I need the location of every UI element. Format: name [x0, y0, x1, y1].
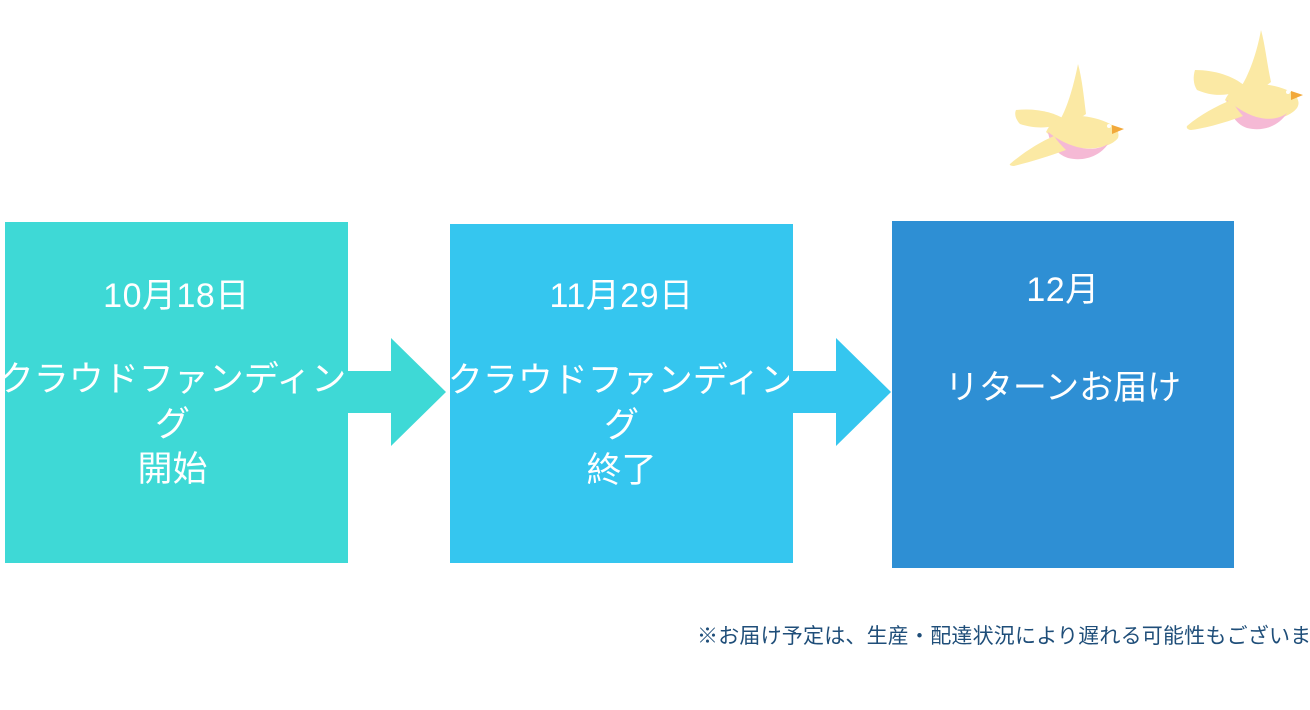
timeline-infographic: 10月18日 クラウドファンディング 開始 11月29日 クラウドファンディング…: [0, 0, 1310, 710]
arrow-step2-to-step3-icon: [789, 338, 891, 451]
bird-left-icon: [1008, 58, 1126, 173]
delivery-disclaimer-note: ※お届け予定は、生産・配達状況により遅れる可能性もございます: [697, 624, 1310, 649]
timeline-step-3-date: 12月: [1026, 273, 1099, 307]
timeline-step-2-label: クラウドファンディング 終了: [442, 359, 802, 493]
timeline-step-1-label: クラウドファンディング 開始: [0, 358, 353, 492]
timeline-step-3-label: リターンお届け: [883, 367, 1243, 411]
timeline-step-2-date: 11月29日: [549, 279, 693, 313]
timeline-step-3: 12月 リターンお届け: [892, 221, 1234, 568]
timeline-step-1: 10月18日 クラウドファンディング 開始: [5, 222, 348, 563]
bird-right-icon: [1185, 28, 1303, 148]
timeline-step-2: 11月29日 クラウドファンディング 終了: [450, 224, 793, 563]
arrow-step1-to-step2-icon: [344, 338, 446, 451]
timeline-step-1-date: 10月18日: [103, 279, 250, 313]
